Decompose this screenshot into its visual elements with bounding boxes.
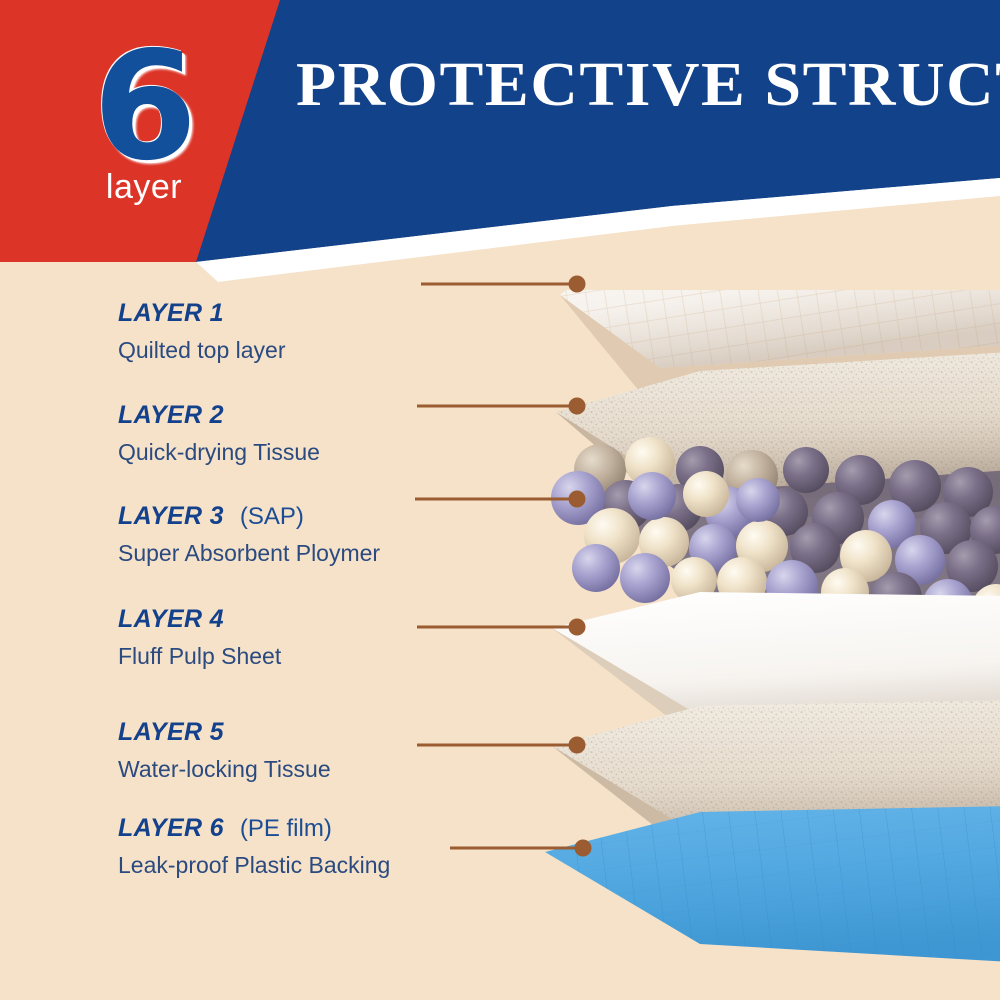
- layer-4-title: LAYER 4: [118, 605, 224, 633]
- protective-structure-infographic: 6 layer PROTECTIVE STRUCTURE LAYER 1 Qu: [0, 0, 1000, 1000]
- layer-1-heading: LAYER 1: [118, 298, 478, 329]
- layer-6-heading: LAYER 6(PE film): [118, 813, 478, 844]
- layer-4-description: Fluff Pulp Sheet: [118, 641, 478, 671]
- layer-label-list: LAYER 1 Quilted top layer LAYER 2 Quick-…: [0, 0, 460, 1000]
- layer-label-3: LAYER 3(SAP) Super Absorbent Ploymer: [118, 501, 478, 568]
- layer-4-heading: LAYER 4: [118, 604, 478, 635]
- layer-2-heading: LAYER 2: [118, 400, 478, 431]
- layer-1-title: LAYER 1: [118, 299, 224, 327]
- layer-5-title: LAYER 5: [118, 718, 224, 746]
- layer-label-6: LAYER 6(PE film) Leak-proof Plastic Back…: [118, 813, 478, 880]
- layer-1-description: Quilted top layer: [118, 335, 478, 365]
- layer-5-description: Water-locking Tissue: [118, 754, 478, 784]
- layer-label-2: LAYER 2 Quick-drying Tissue: [118, 400, 478, 467]
- illustration-layer-6-pe-film: [545, 806, 1000, 962]
- layer-2-description: Quick-drying Tissue: [118, 437, 478, 467]
- layer-6-title: LAYER 6: [118, 814, 224, 842]
- layer-6-description: Leak-proof Plastic Backing: [118, 850, 478, 880]
- layer-5-heading: LAYER 5: [118, 717, 478, 748]
- layer-6-note: (PE film): [240, 815, 332, 842]
- layer-3-title: LAYER 3: [118, 502, 224, 530]
- layer-label-5: LAYER 5 Water-locking Tissue: [118, 717, 478, 784]
- layer-3-description: Super Absorbent Ploymer: [118, 538, 478, 568]
- layer-label-4: LAYER 4 Fluff Pulp Sheet: [118, 604, 478, 671]
- layer-2-title: LAYER 2: [118, 401, 224, 429]
- layer-3-heading: LAYER 3(SAP): [118, 501, 478, 532]
- layer-label-1: LAYER 1 Quilted top layer: [118, 298, 478, 365]
- layer-3-note: (SAP): [240, 503, 304, 530]
